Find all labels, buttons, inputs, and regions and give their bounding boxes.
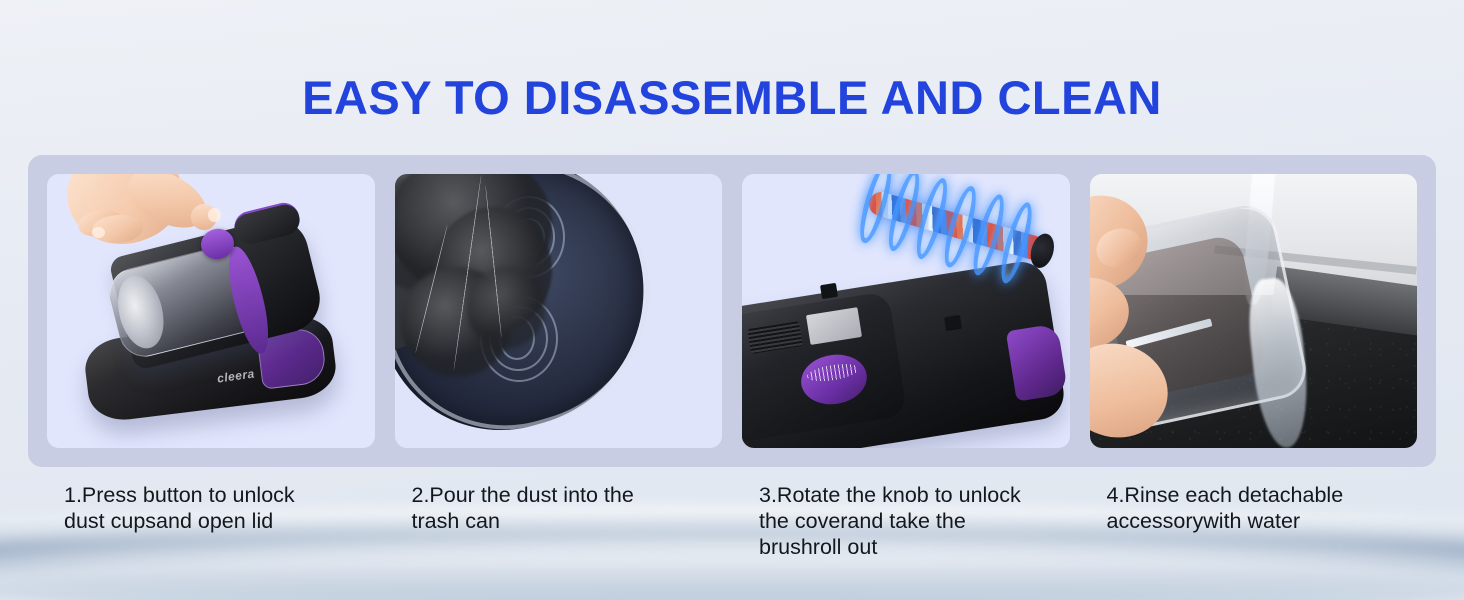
steps-image-band: cleera xyxy=(28,155,1436,467)
brushroll xyxy=(860,174,1056,286)
fingernail-2 xyxy=(92,227,105,238)
latch-clip-1 xyxy=(820,282,838,298)
step-caption-3: 3.Rotate the knob to unlock the coverand… xyxy=(742,482,1070,560)
side-purple-pad xyxy=(1005,324,1068,403)
step-caption-1: 1.Press button to unlock dust cupsand op… xyxy=(47,482,375,560)
step-image-3 xyxy=(742,174,1070,448)
step-image-2 xyxy=(395,174,723,448)
step-captions: 1.Press button to unlock dust cupsand op… xyxy=(28,482,1436,560)
step-image-4 xyxy=(1090,174,1418,448)
step-caption-4: 4.Rinse each detachable accessorywith wa… xyxy=(1090,482,1418,560)
dust-clump-4 xyxy=(467,267,546,349)
hand-pressing-button xyxy=(67,174,250,284)
step-image-1: cleera xyxy=(47,174,375,448)
page-title: EASY TO DISASSEMBLE AND CLEAN xyxy=(0,70,1464,125)
step-caption-2: 2.Pour the dust into the trash can xyxy=(395,482,723,560)
fingernail-1 xyxy=(208,208,221,222)
